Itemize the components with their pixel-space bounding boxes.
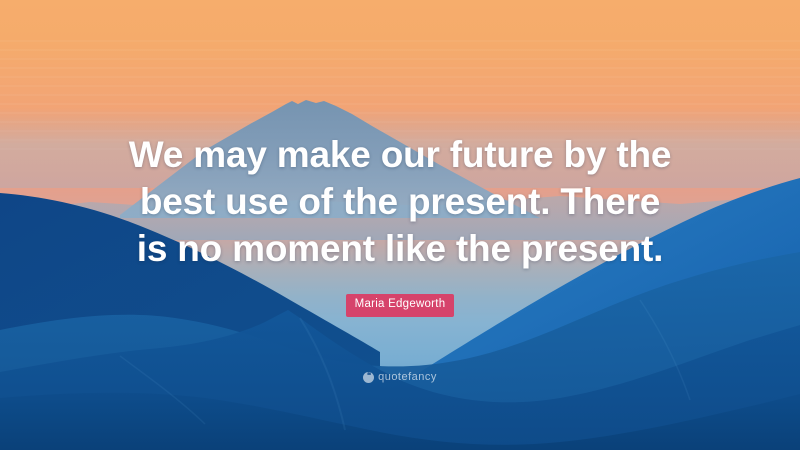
quote-wallpaper: We may make our future by the best use o…: [0, 0, 800, 450]
watermark: ❝ quotefancy: [0, 366, 800, 384]
watermark-brand: quotefancy: [378, 372, 437, 383]
watermark-logo-glyph: ❝: [367, 372, 370, 380]
quote-line-2: best use of the present. There: [56, 178, 744, 225]
quote-line-3: is no moment like the present.: [56, 225, 744, 272]
quote-mark-circle-icon: ❝: [363, 372, 374, 383]
quote-block: We may make our future by the best use o…: [0, 131, 800, 272]
quote-line-1: We may make our future by the: [56, 131, 744, 178]
watermark-inner[interactable]: ❝ quotefancy: [363, 372, 437, 383]
author-row: Maria Edgeworth: [0, 294, 800, 317]
author-badge[interactable]: Maria Edgeworth: [346, 294, 455, 317]
